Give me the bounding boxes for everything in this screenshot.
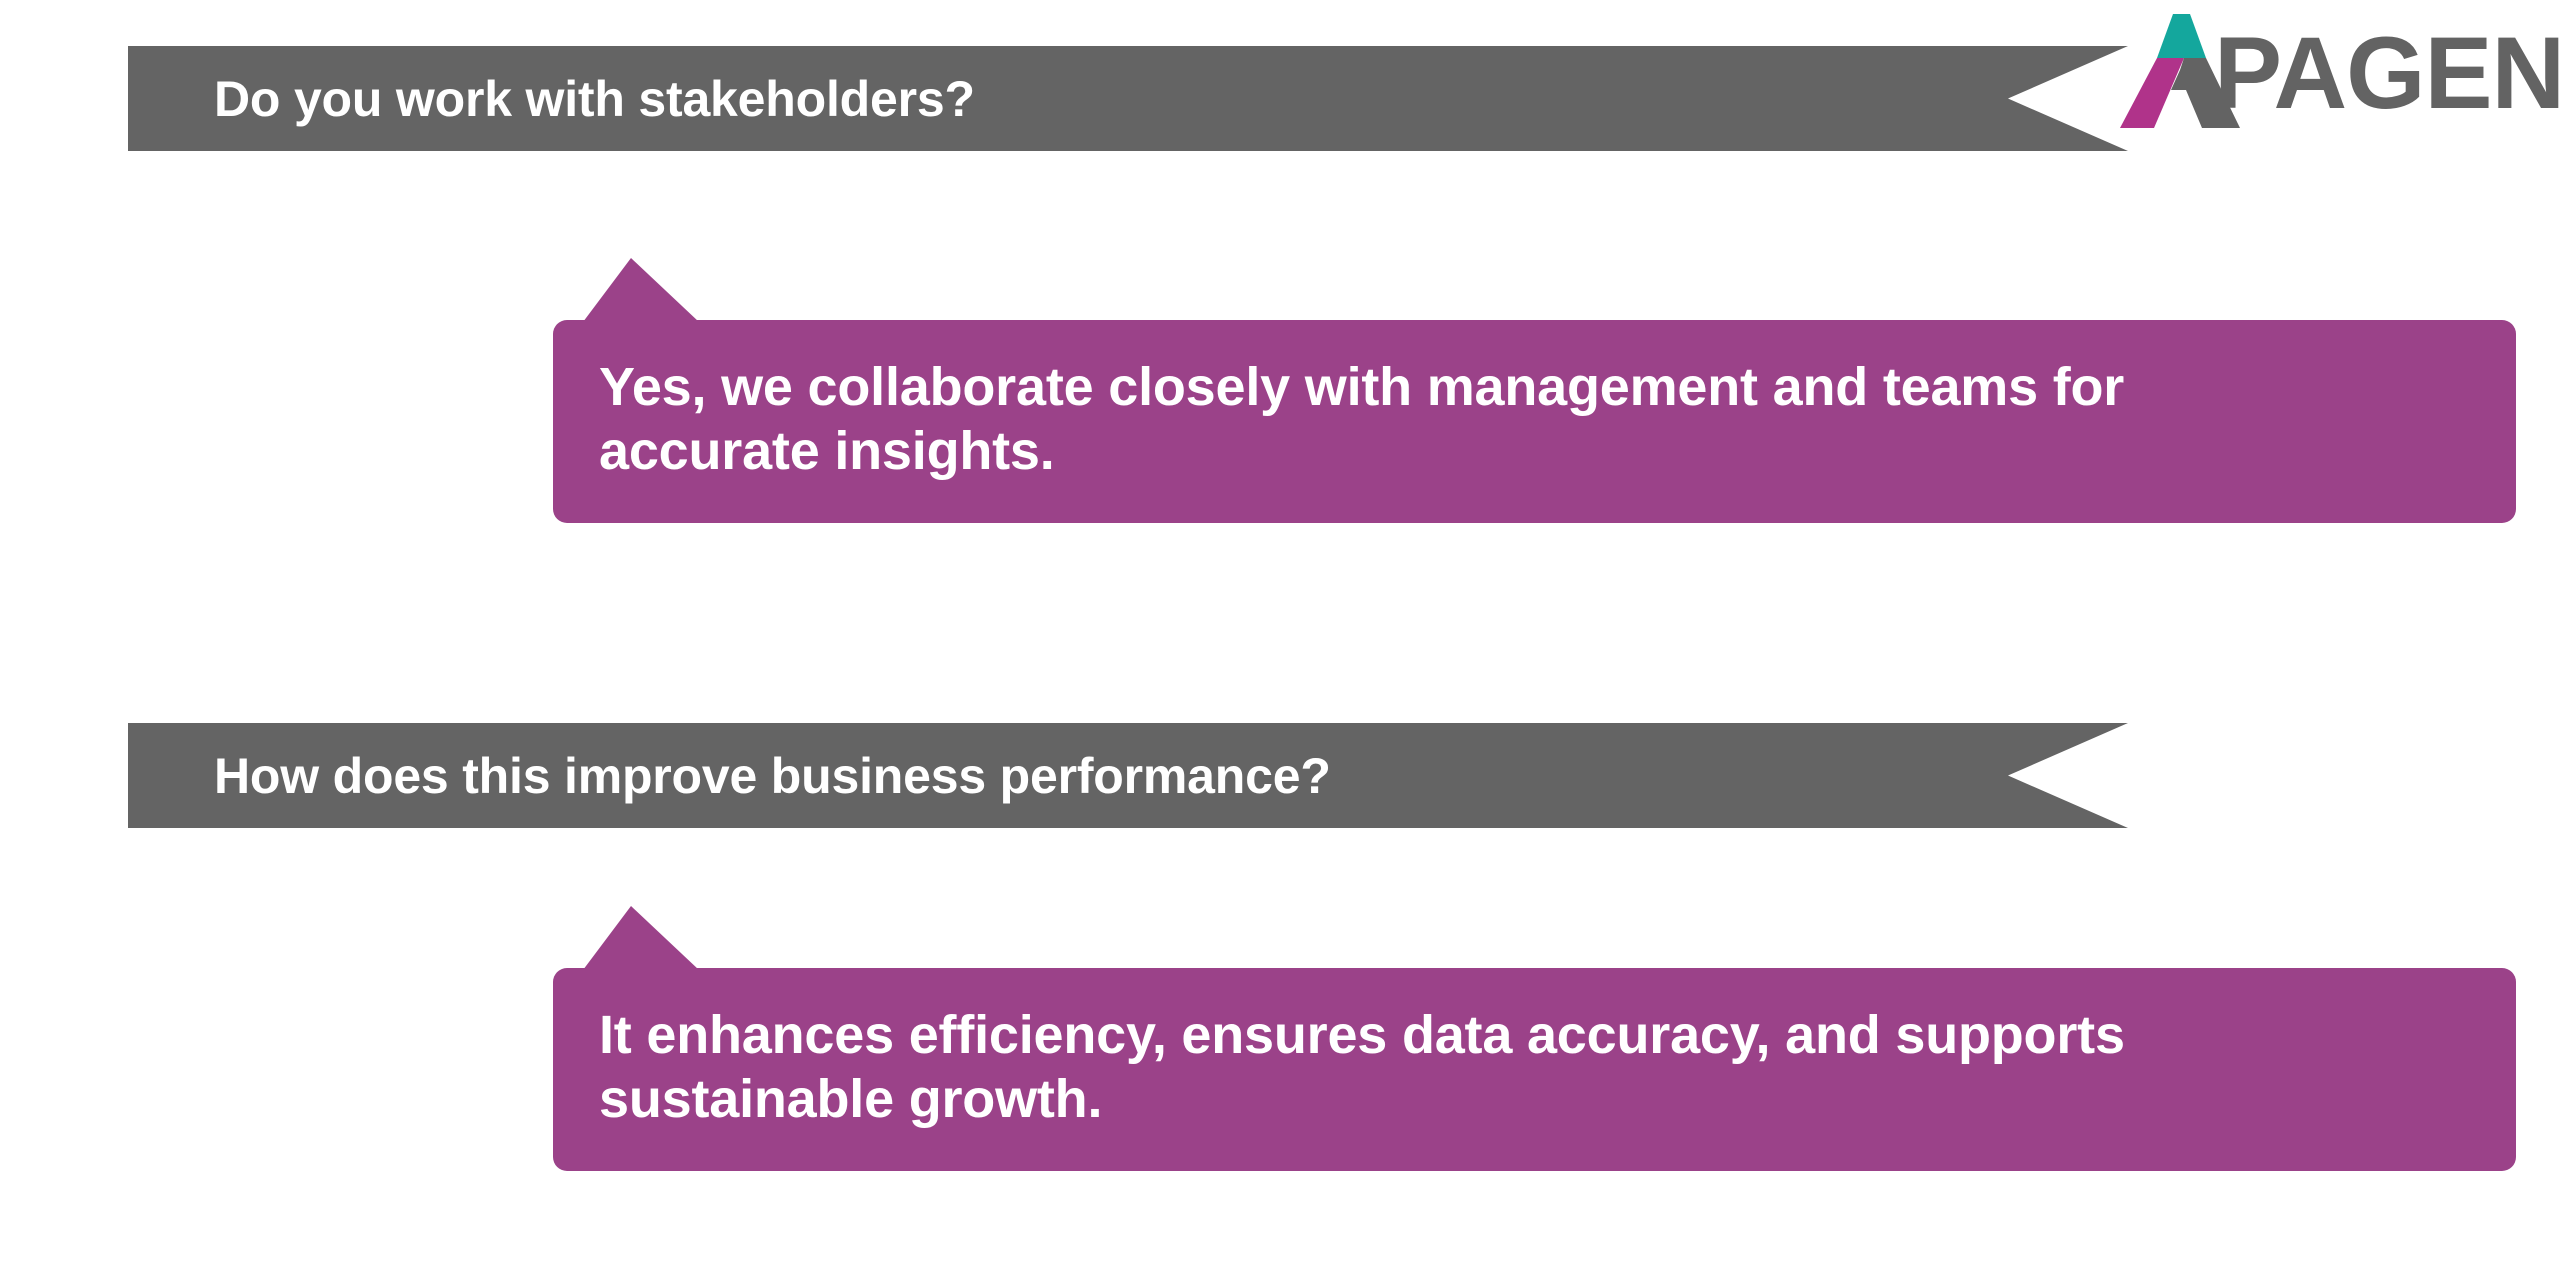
question-text-1: Do you work with stakeholders? [214, 74, 975, 124]
apagen-logo: PAGEN [2118, 8, 2548, 128]
answer-text-2: It enhances efficiency, ensures data acc… [599, 1004, 2470, 1131]
answer-text-1: Yes, we collaborate closely with managem… [599, 356, 2470, 483]
answer-line: accurate insights. [599, 420, 2470, 484]
answer-line: It enhances efficiency, ensures data acc… [599, 1004, 2470, 1068]
apagen-logo-mark-icon [2118, 10, 2248, 128]
faq-canvas: PAGEN Do you work with stakeholders? Yes… [0, 0, 2560, 1280]
apagen-wordmark: PAGEN [2214, 22, 2560, 124]
answer-line: Yes, we collaborate closely with managem… [599, 356, 2470, 420]
answer-tail-1 [583, 258, 699, 322]
question-banner-2[interactable]: How does this improve business performan… [128, 723, 2128, 828]
question-text-2: How does this improve business performan… [214, 751, 1331, 801]
answer-tail-2 [583, 906, 699, 970]
answer-line: sustainable growth. [599, 1068, 2470, 1132]
answer-bubble-2[interactable]: It enhances efficiency, ensures data acc… [553, 968, 2516, 1171]
question-banner-1[interactable]: Do you work with stakeholders? [128, 46, 2128, 151]
answer-bubble-1[interactable]: Yes, we collaborate closely with managem… [553, 320, 2516, 523]
